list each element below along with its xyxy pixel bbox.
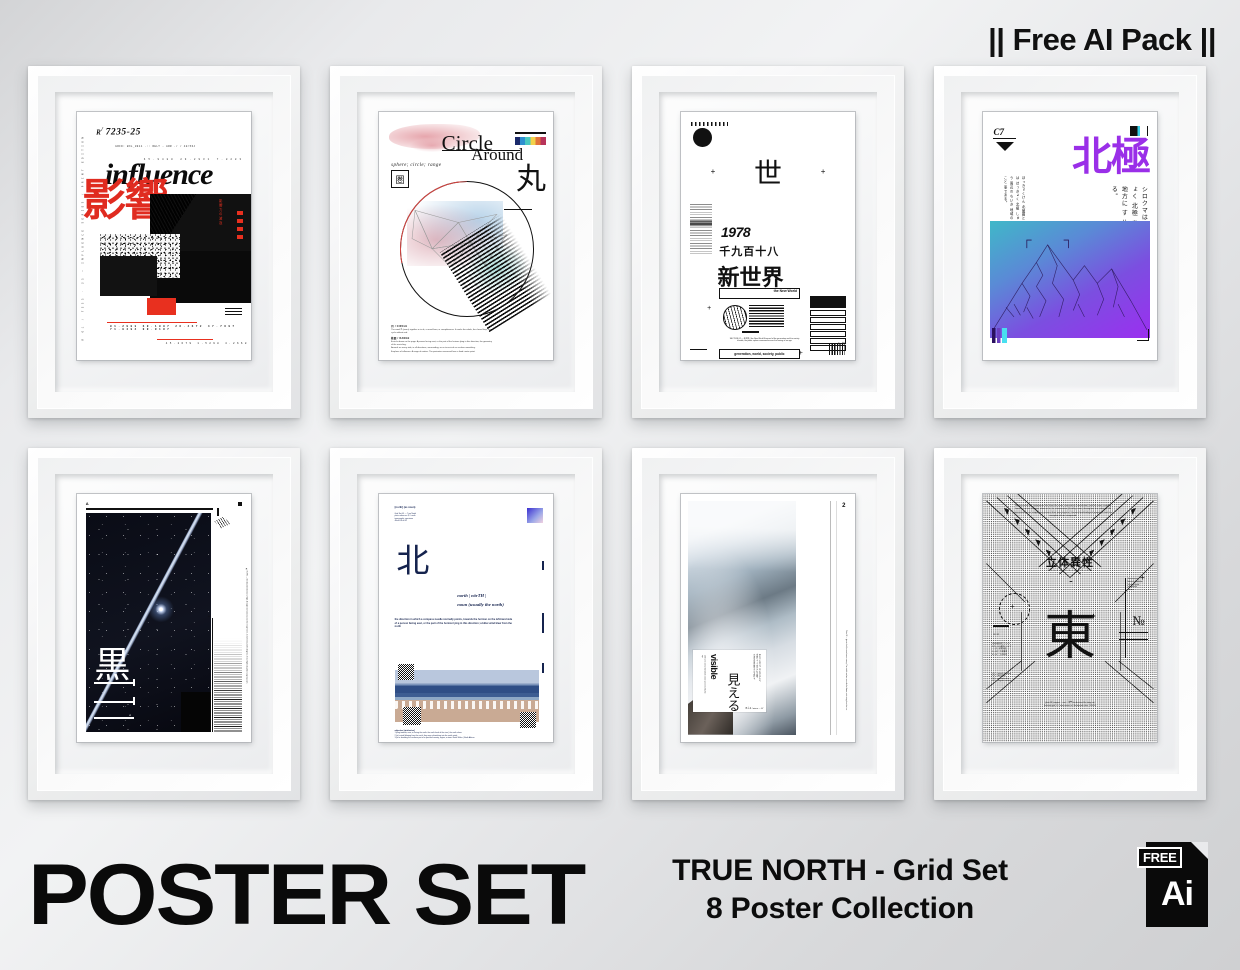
poster3-kanji-top: 世: [681, 152, 855, 192]
poster6-word: north | nôrTH |: [457, 593, 486, 598]
poster3-kanji-year: 千九百十八: [719, 243, 779, 259]
poster3-black-bar: [810, 296, 847, 308]
poster2-body-note: The word 丸 (maru) signifies a circle, a …: [391, 329, 492, 335]
poster3-english-label: the New World: [774, 289, 797, 293]
poster1-footer-codes: 01.2903 68.1007 26.4672 47.7697 71.0494 …: [110, 325, 251, 331]
poster-north: [north] (as noun) Grid Set 01 — True Nor…: [379, 494, 553, 742]
poster2-kanji-maru: 丸: [516, 154, 546, 198]
poster1-red-block: [147, 298, 177, 315]
poster8-title-sub: S T E R E O I S O M E R I S M: [983, 570, 1157, 572]
poster2-swatch-rule: [515, 132, 546, 133]
poster1-red-squares: [237, 211, 243, 243]
frame-mat: C7 北極 シロクマは ほっきょく 北極 ちほう 地方に す 住んでいる。 ほっ…: [961, 92, 1179, 392]
poster-new-world: 世 + + 1978 千九百十八 新世界 the New World + ニュ世…: [681, 112, 855, 360]
poster5-line-1: [94, 682, 134, 684]
frame-circle-around[interactable]: Circle Around sphere; circle; range 圏 丸: [330, 66, 602, 418]
poster6-qr-code-2: [403, 707, 420, 724]
poster7-card-footer: 見える / mieru — 07: [745, 707, 763, 710]
poster5-line-2-tick: [133, 697, 135, 704]
poster8-body-text: Dimensionally are compounds that have th…: [1011, 505, 1115, 518]
poster-arctic: C7 北極 シロクマは ほっきょく 北極 ちほう 地方に す 住んでいる。 ほっ…: [983, 112, 1157, 360]
poster5-arrow-icon: ▸: [208, 614, 210, 618]
frame-arctic[interactable]: C7 北極 シロクマは ほっきょく 北極 ちほう 地方に す 住んでいる。 ほっ…: [934, 66, 1206, 418]
frame-mat: 2 visible able to be seen; that which ca…: [659, 474, 877, 774]
poster6-footer-line-3: 3 (of or denoting the northern part of a…: [395, 737, 520, 740]
poster3-generation-box: generation, world, society, public: [719, 349, 799, 359]
poster2-body-heading-2: 範囲 / RANGE: [391, 336, 492, 340]
frame-mat: [north] (as noun) Grid Set 01 — True Nor…: [357, 474, 575, 774]
poster2-title-rule: [442, 150, 520, 151]
poster2-body-text: 円 / CIRCLE The word 丸 (maru) signifies a…: [391, 323, 492, 354]
poster5-vertical-rule: [212, 618, 214, 732]
poster5-black-block: [181, 692, 211, 732]
poster7-side-text: Plate 02 — glacier field, monochrome sur…: [845, 630, 847, 729]
free-label: FREE: [1137, 847, 1182, 868]
poster3-english-box: the New World: [719, 288, 799, 299]
poster2-body-para-1: A circle drawn on the page. A person fac…: [391, 341, 492, 347]
poster8-bottom-text: | plate 08 | compass — east — 東 — the di…: [1021, 702, 1118, 707]
poster7-word: visible: [709, 654, 719, 679]
poster1-meta: GRID: BXL_0911 .:: RELT - ARR ./ / 40/56…: [115, 145, 195, 149]
poster7-card-text: able to be seen; that which can be perce…: [700, 655, 705, 696]
footer-subtitle-line-1: TRUE NORTH - Grid Set: [620, 852, 1060, 890]
frame-new-world[interactable]: 世 + + 1978 千九百十八 新世界 the New World + ニュ世…: [632, 66, 904, 418]
poster2-body-para-3: A sphere of influence. A range of motion…: [391, 351, 492, 354]
poster-grid: R/ 7235-25 GRID: BXL_0911 .:: RELT - ARR…: [0, 58, 1240, 828]
poster4-title-kanji: 北極: [1072, 137, 1150, 177]
frame-mat: R/ 7235-25 GRID: BXL_0911 .:: RELT - ARR…: [55, 92, 273, 392]
poster3-dash: [690, 349, 707, 351]
poster5-line-1-tick: [133, 679, 135, 686]
poster3-kanji-title: 新世界: [718, 260, 784, 292]
poster8-number-rule-1: [1119, 632, 1149, 633]
poster6-qr-code-3: [520, 712, 536, 728]
poster6-qr-code-1: [398, 664, 414, 680]
poster3-text-block: [749, 305, 784, 327]
poster6-gradient-swatch: [527, 508, 543, 523]
poster-east: Dimensionally are compounds that have th…: [983, 494, 1157, 742]
poster4-mark-rule: [993, 138, 1016, 139]
poster6-tick-1: [542, 561, 544, 570]
poster6-tag: [north] (as noun): [395, 506, 416, 509]
poster6-kanji: 北: [396, 544, 429, 577]
poster-black: A 黒 α ▸ 黒 / KURO — the absol: [77, 494, 251, 742]
poster8-title-kanji: 立体異性: [983, 554, 1157, 570]
poster8-number-rule-2: [1119, 639, 1149, 640]
poster7-caption-card: visible able to be seen; that which can …: [693, 650, 766, 712]
poster8-right-text: Stereoisomers Identical constitution Dif…: [1127, 578, 1148, 591]
poster4-corner-bracket: [1137, 329, 1149, 341]
poster4-vertical-text-2: ほっきょくけん 北極圏とは ほっきょく 北極 しゅう 周辺の ちいき 地域の こ…: [1002, 176, 1026, 221]
poster6-tick-2: [542, 613, 545, 633]
poster1-red-rule-2: [157, 339, 213, 340]
poster5-leaf-icon: [214, 516, 230, 528]
poster5-top-rule: [86, 508, 213, 510]
poster3-plus-bottom-icon: +: [799, 350, 803, 357]
footer-band: POSTER SET TRUE NORTH - Grid Set 8 Poste…: [0, 828, 1240, 970]
poster8-number-mark: №: [1132, 613, 1144, 629]
poster2-subtitle: sphere; circle; range: [391, 163, 441, 168]
ai-file-badge: FREE Ai: [1146, 842, 1208, 927]
poster3-plus-left-icon: +: [711, 167, 716, 176]
poster8-left-text-2: 01.1 — azimuth reference 02.4 — declinat…: [992, 673, 1020, 683]
poster4-triangle-icon: [996, 142, 1014, 151]
poster1-footer-codes-2: 45.2679 1.5298 4.2668: [166, 342, 249, 345]
poster1-equal-lines: [225, 308, 242, 317]
frame-east[interactable]: Dimensionally are compounds that have th…: [934, 448, 1206, 800]
poster6-footer: adjective [attributive] 1 lying towards,…: [395, 730, 520, 740]
poster5-line-3: [94, 717, 134, 719]
poster6-meta: Grid Set 01 — True North plate reference…: [395, 513, 416, 523]
poster3-dash-2: [742, 331, 759, 333]
poster4-mountain-image: [990, 221, 1150, 338]
poster6-part-of-speech: noun (usually the north): [457, 602, 504, 607]
poster2-color-swatch: [515, 137, 546, 145]
poster-visible: 2 visible able to be seen; that which ca…: [681, 494, 855, 742]
poster1-dark-block: [100, 256, 157, 296]
poster3-bar-texture: [690, 204, 713, 256]
poster5-noise-texture: [214, 638, 242, 732]
page-fold-icon: [1191, 842, 1208, 859]
poster4-mark: C7: [993, 127, 1004, 137]
poster2-body-heading: 円 / CIRCLE: [391, 324, 492, 328]
poster3-year: 1978: [721, 224, 750, 240]
poster2-kanji-box: 圏: [391, 170, 409, 188]
poster2-body-para-2: Around: on every side, in all directions…: [391, 347, 492, 350]
ai-format-label: Ai: [1146, 875, 1208, 914]
poster6-definition: the direction in which a compass needle …: [395, 618, 513, 629]
poster1-code: R/ 7235-25: [96, 127, 141, 137]
poster2-arrow-rule: [504, 209, 532, 210]
poster6-tick-3: [542, 663, 545, 673]
frame-mat: Circle Around sphere; circle; range 圏 丸: [357, 92, 575, 392]
poster1-side-text: R 01 / 7235 · 25 — INFLUENCE SERIES / PR…: [82, 135, 85, 341]
footer-subtitle-group: TRUE NORTH - Grid Set 8 Poster Collectio…: [620, 852, 1060, 927]
poster8-vertical-divider: [1125, 578, 1126, 657]
footer-subtitle-line-2: 8 Poster Collection: [620, 890, 1060, 928]
poster7-page-number: 2: [842, 503, 845, 509]
frame-mat: A 黒 α ▸ 黒 / KURO — the absol: [55, 474, 273, 774]
poster5-small-mark: α: [129, 713, 131, 717]
poster1-vertical-red-text: 影響力の波及: [218, 199, 223, 225]
poster-influence: R/ 7235-25 GRID: BXL_0911 .:: RELT - ARR…: [77, 112, 251, 360]
poster3-dot-row: [691, 122, 728, 126]
poster7-card-text-2: 明らかに見える。目に見えるもの。 視覚によって捉えられる状態。 氷河の表面が霧の…: [738, 654, 760, 704]
free-ai-pack-badge: || Free AI Pack ||: [988, 22, 1216, 58]
poster8-circle-plus-icon: +: [1010, 602, 1015, 611]
frame-mat: Dimensionally are compounds that have th…: [961, 474, 1179, 774]
poster1-red-rule: [107, 322, 197, 324]
poster8-left-text: 分光比較計測 グリッド セクション異性について ーーデータ参照値ーー Ａー03 …: [992, 643, 1015, 657]
poster5-corner-square: [238, 502, 242, 506]
poster3-plus-right-icon: +: [821, 167, 826, 176]
frame-mat: 世 + + 1978 千九百十八 新世界 the New World + ニュ世…: [659, 92, 877, 392]
poster5-kanji: 黒: [94, 648, 130, 684]
poster3-footer-body: SECTION 02 — 新世界 / the New World. A reco…: [730, 338, 800, 343]
poster3-barcode: [829, 343, 845, 355]
poster3-plus-lower-icon: +: [707, 305, 711, 312]
poster4-color-bars: [992, 328, 1008, 343]
poster5-corner-letter: A: [86, 501, 89, 506]
frame-black[interactable]: A 黒 α ▸ 黒 / KURO — the absol: [28, 448, 300, 800]
poster7-rule-2: [836, 501, 837, 734]
poster3-sphere-icon: [723, 305, 748, 329]
poster8-tick-label: 80 / 45: [993, 634, 999, 636]
frame-north[interactable]: [north] (as noun) Grid Set 01 — True Nor…: [330, 448, 602, 800]
footer-main-title: POSTER SET: [28, 846, 584, 945]
poster3-black-circle: [693, 128, 712, 147]
poster7-rule-1: [830, 501, 831, 734]
frame-visible[interactable]: 2 visible able to be seen; that which ca…: [632, 448, 904, 800]
poster8-plus-icon: +: [1091, 611, 1096, 621]
poster5-line-2: [94, 701, 134, 703]
poster8-left-tick: [993, 625, 1009, 626]
frame-influence[interactable]: R/ 7235-25 GRID: BXL_0911 .:: RELT - ARR…: [28, 66, 300, 418]
poster-circle-around: Circle Around sphere; circle; range 圏 丸: [379, 112, 553, 360]
